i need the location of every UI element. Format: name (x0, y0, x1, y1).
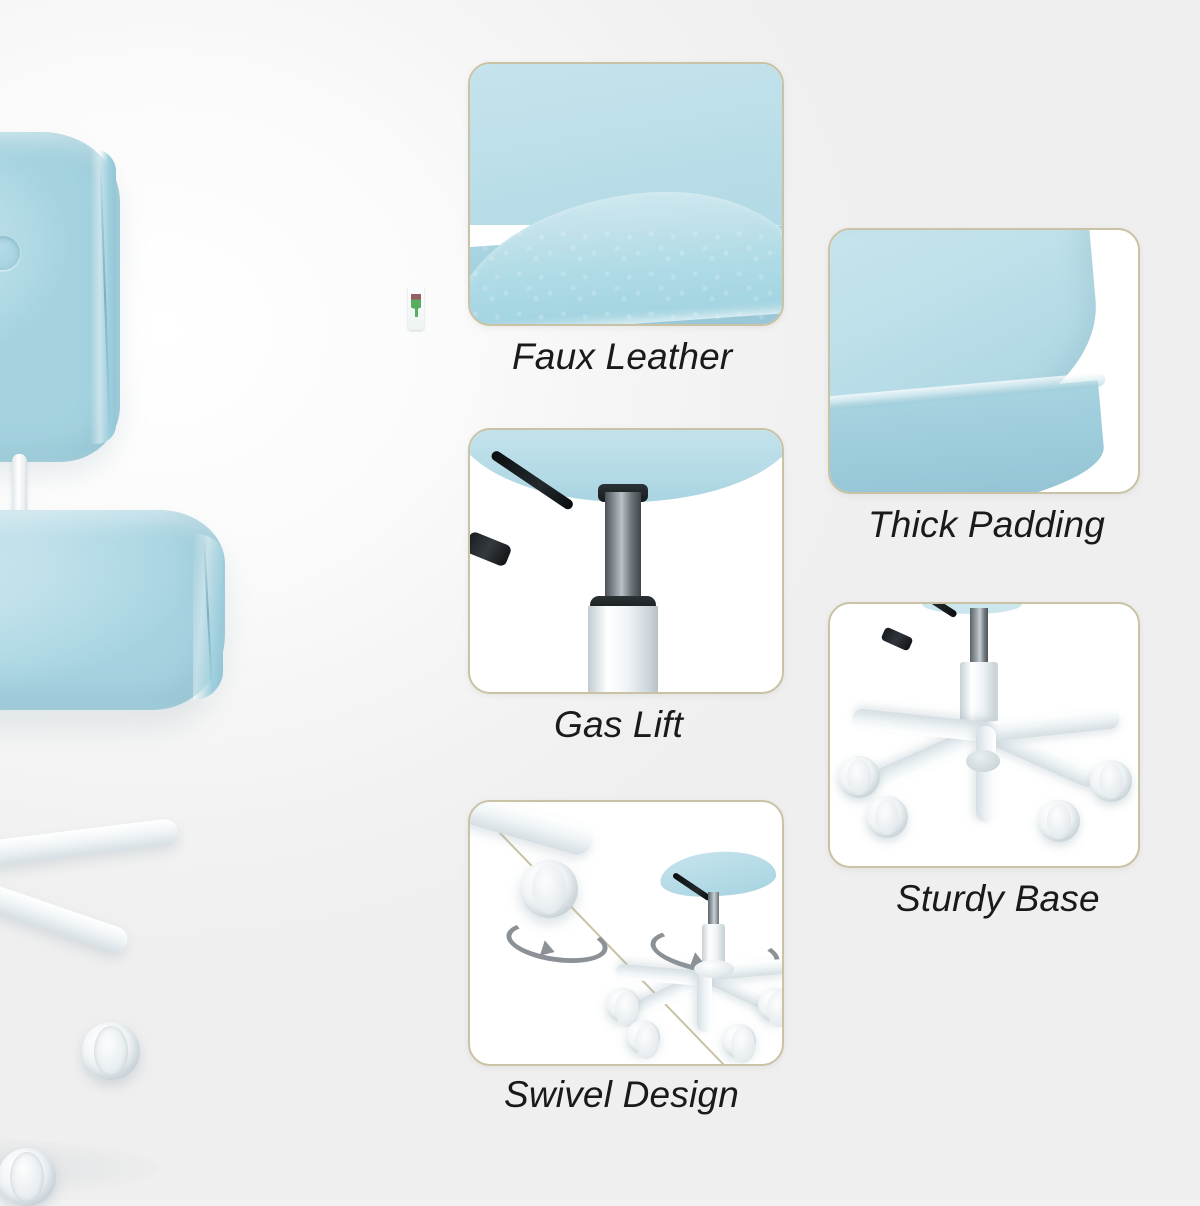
caption-faux-leather: Faux Leather (512, 336, 732, 378)
callout-panel-sturdy-base (828, 602, 1140, 868)
caption-sturdy-base: Sturdy Base (896, 878, 1100, 920)
base-leg (979, 708, 1120, 743)
callout-panel-gas-lift (468, 428, 784, 694)
caster-wheel (0, 1148, 56, 1206)
caster-wheel (838, 756, 880, 798)
brand-logo-icon (411, 294, 421, 322)
cylinder-white-sleeve (960, 662, 998, 728)
base-leg (0, 850, 131, 956)
base-leg (697, 970, 712, 1032)
caption-thick-padding: Thick Padding (868, 504, 1105, 546)
callout-panel-swivel-design (468, 800, 784, 1066)
product-feature-collage: Faux Leather Thick Padding Gas Lift S (0, 0, 1200, 1200)
backrest-welt (90, 148, 116, 444)
caster-wheel (82, 1022, 140, 1080)
caster-wheel (1038, 800, 1080, 842)
caster-wheel (1090, 760, 1132, 802)
callout-panel-faux-leather (468, 62, 784, 326)
gas-cylinder-chrome (970, 608, 988, 666)
caption-gas-lift: Gas Lift (554, 704, 683, 746)
base-leg (468, 800, 596, 858)
caster-wheel (722, 1024, 756, 1058)
main-chair-photo (0, 110, 410, 1120)
caster-wheel (606, 988, 640, 1022)
base-leg (0, 818, 179, 879)
caster-wheel (866, 796, 908, 838)
caster-wheel (520, 860, 578, 918)
caster-wheel (626, 1020, 660, 1054)
callout-panel-thick-padding (828, 228, 1140, 494)
chair-backrest (0, 132, 120, 462)
brand-tag (408, 286, 424, 330)
height-adjust-lever-handle (880, 627, 913, 652)
leather-grain-texture (470, 225, 782, 324)
chair-seat (0, 510, 225, 710)
caption-swivel-design: Swivel Design (504, 1074, 739, 1116)
base-center-cap (966, 750, 1000, 772)
gas-cylinder-chrome (605, 492, 641, 604)
caster-wheel (758, 988, 784, 1022)
base-leg (976, 726, 996, 822)
cylinder-white-sleeve (588, 606, 658, 692)
height-adjust-lever-handle (468, 531, 513, 568)
gas-cylinder-chrome (708, 892, 719, 928)
rotation-arrow-icon (504, 915, 611, 969)
base-center-cap (694, 960, 734, 978)
